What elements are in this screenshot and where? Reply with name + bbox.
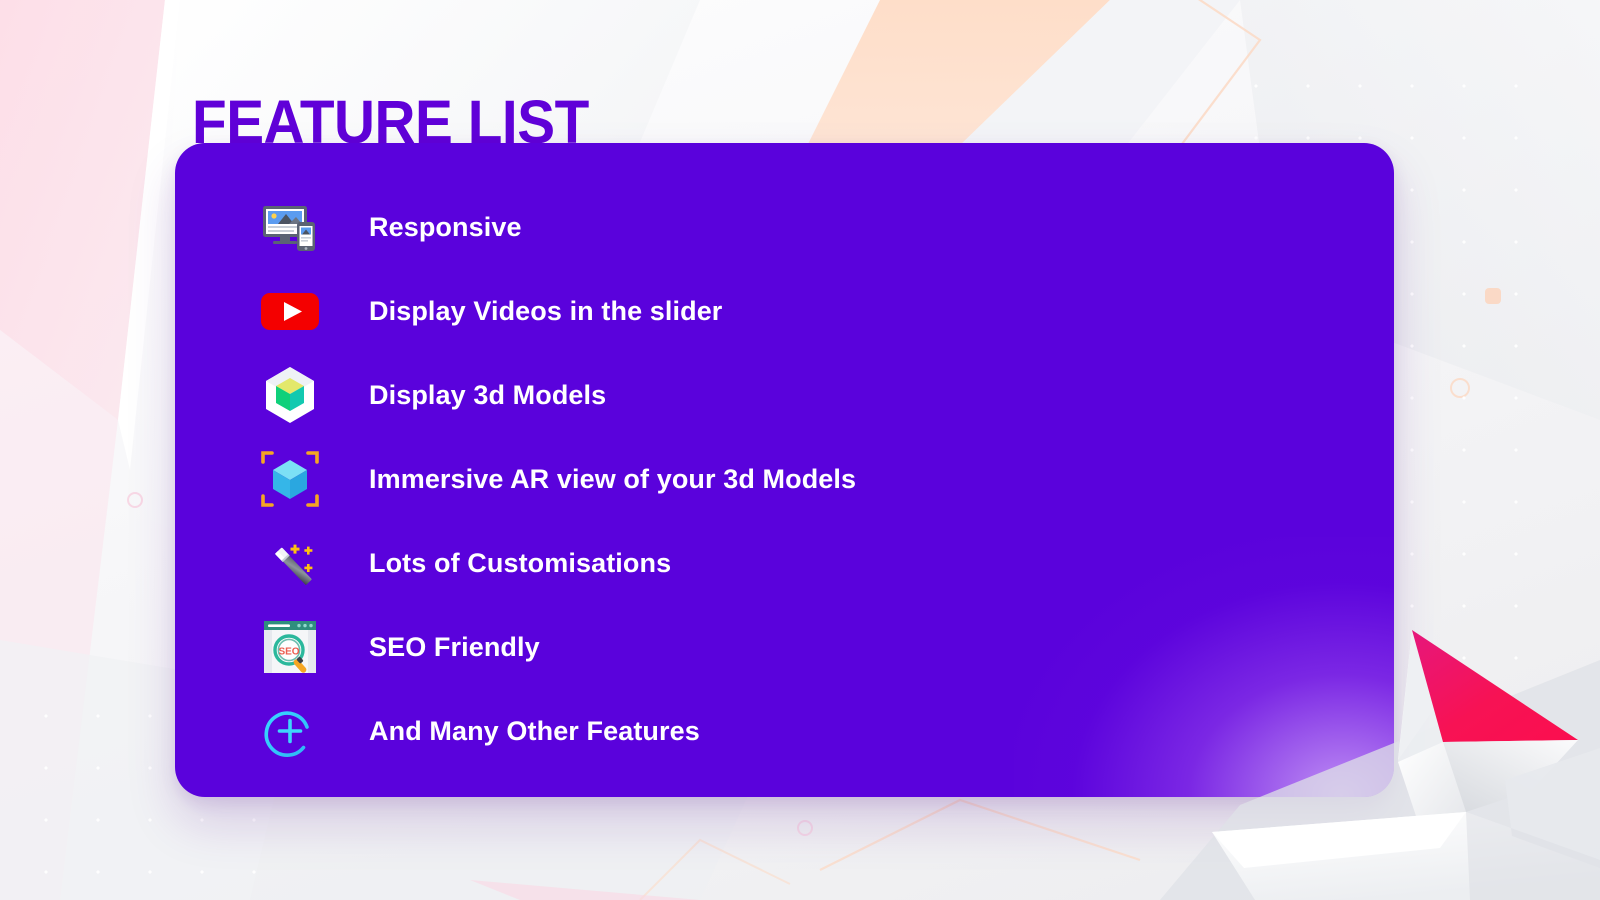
seo-magnifier-icon: SEO (259, 616, 321, 678)
feature-label: Responsive (369, 212, 522, 243)
3d-cube-hexagon-icon (259, 364, 321, 426)
plus-circle-icon (259, 700, 321, 762)
feature-label: Display Videos in the slider (369, 296, 722, 327)
feature-item-seo[interactable]: SEO SEO Friendly (175, 605, 1394, 689)
feature-label: Display 3d Models (369, 380, 606, 411)
feature-item-customisations[interactable]: Lots of Customisations (175, 521, 1394, 605)
feature-label: Lots of Customisations (369, 548, 671, 579)
feature-list-card: Responsive Display Videos in the slider (175, 143, 1394, 797)
feature-item-ar-view[interactable]: Immersive AR view of your 3d Models (175, 437, 1394, 521)
feature-label: SEO Friendly (369, 632, 540, 663)
feature-list: Responsive Display Videos in the slider (175, 143, 1394, 773)
magic-wand-icon (259, 532, 321, 594)
slide-stage: FEATURE LIST (0, 0, 1600, 900)
feature-item-videos[interactable]: Display Videos in the slider (175, 269, 1394, 353)
feature-item-other[interactable]: And Many Other Features (175, 689, 1394, 773)
youtube-play-icon (259, 280, 321, 342)
responsive-devices-icon (259, 196, 321, 258)
feature-item-responsive[interactable]: Responsive (175, 185, 1394, 269)
feature-label: Immersive AR view of your 3d Models (369, 464, 856, 495)
feature-item-3d-models[interactable]: Display 3d Models (175, 353, 1394, 437)
feature-label: And Many Other Features (369, 716, 700, 747)
ar-cube-scan-icon (259, 448, 321, 510)
svg-text:SEO: SEO (278, 646, 299, 657)
